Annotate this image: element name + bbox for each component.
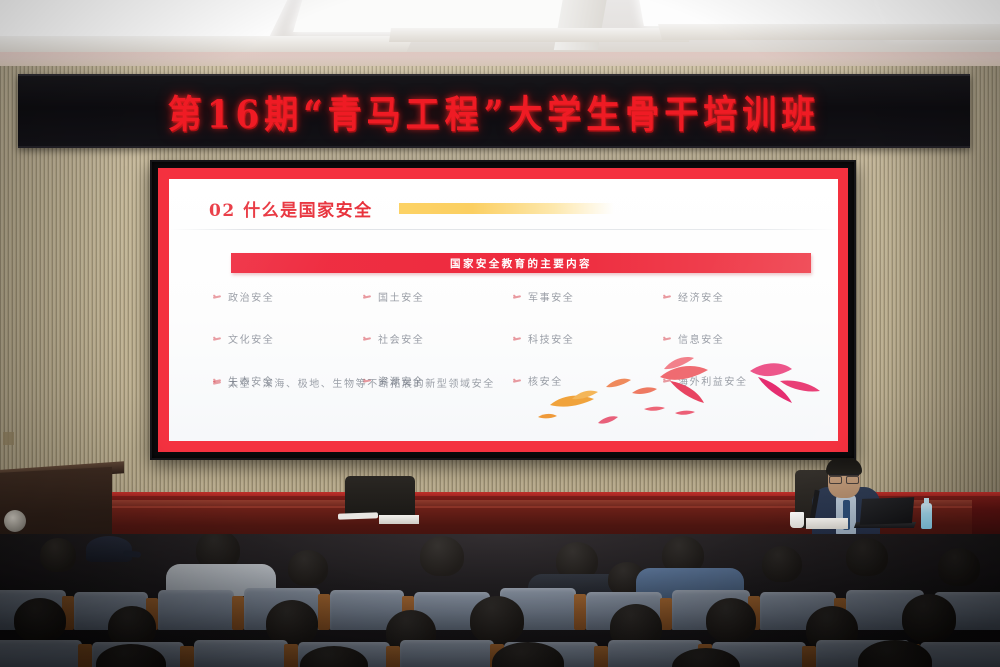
section-heading-text: 国家安全教育的主要内容 <box>450 256 592 271</box>
ceiling-beam <box>554 0 610 50</box>
audience-head <box>762 546 802 582</box>
audience-cap <box>86 536 132 562</box>
check-icon <box>363 294 372 300</box>
seat[interactable] <box>194 640 288 667</box>
ceiling-light-panel <box>636 0 894 26</box>
bullet-label: 军事安全 <box>528 289 574 304</box>
bullet-label: 科技安全 <box>528 331 574 346</box>
slide-title-row: 02 什么是国家安全 <box>169 193 838 223</box>
slide-content: 02 什么是国家安全 国家安全教育的主要内容 政治安全 国土安全 <box>169 179 838 441</box>
speaker-hair <box>826 458 862 475</box>
water-bottle <box>921 503 932 529</box>
glasses-icon <box>829 474 859 483</box>
bullet-label: 太空、深海、极地、生物等不断拓展的新型领域安全 <box>228 375 495 390</box>
audience-head <box>902 594 956 642</box>
audience-head <box>288 550 328 586</box>
check-icon <box>663 336 672 342</box>
seat-armrest <box>318 594 330 630</box>
bullet-label: 政治安全 <box>228 289 274 304</box>
seat[interactable] <box>400 640 494 667</box>
audience-head <box>938 548 980 586</box>
laptop-screen <box>860 497 914 525</box>
ceiling-rib <box>389 28 691 42</box>
seat-armrest <box>386 646 400 667</box>
check-icon <box>213 380 222 386</box>
ceiling-rib <box>658 24 1000 40</box>
podium-emblem <box>4 510 26 532</box>
event-banner: 第16期“青马工程”大学生骨干培训班 <box>18 74 970 148</box>
seat-armrest <box>180 646 194 667</box>
paper-cup <box>790 512 804 528</box>
empty-chair <box>345 476 415 516</box>
lecture-hall-photo: 第16期“青马工程”大学生骨干培训班 02 什么是国家安全 国家安全教育的主要内… <box>0 0 1000 667</box>
check-icon <box>513 378 522 384</box>
title-accent-bar <box>399 203 614 214</box>
bullet-item: 军事安全 <box>513 289 663 304</box>
slide: 02 什么是国家安全 国家安全教育的主要内容 政治安全 国土安全 <box>158 168 848 452</box>
bullet-item: 社会安全 <box>363 331 513 346</box>
event-banner-text: 第16期“青马工程”大学生骨干培训班 <box>168 84 820 139</box>
check-icon <box>513 336 522 342</box>
flying-birds-decoration <box>532 347 832 439</box>
bullet-item: 科技安全 <box>513 331 663 346</box>
title-divider <box>169 229 838 230</box>
check-icon <box>363 336 372 342</box>
bullet-item: 信息安全 <box>663 331 813 346</box>
check-icon <box>513 294 522 300</box>
check-icon <box>663 294 672 300</box>
bullet-item: 经济安全 <box>663 289 813 304</box>
seat-armrest <box>594 646 608 667</box>
audience-head <box>420 536 464 576</box>
check-icon <box>213 294 222 300</box>
bullet-label: 社会安全 <box>378 331 424 346</box>
seat[interactable] <box>158 590 234 630</box>
bullet-label: 信息安全 <box>678 331 724 346</box>
section-heading-bar: 国家安全教育的主要内容 <box>231 253 811 273</box>
seat-armrest <box>232 596 244 630</box>
audience-head <box>40 538 76 572</box>
ceiling-rib <box>0 36 414 52</box>
bullet-item: 文化安全 <box>213 331 363 346</box>
bullet-item: 国土安全 <box>363 289 513 304</box>
bullet-label: 国土安全 <box>378 289 424 304</box>
seat-armrest <box>574 594 586 630</box>
audience-head <box>470 596 524 644</box>
bullet-label: 经济安全 <box>678 289 724 304</box>
audience-head <box>14 598 66 642</box>
slide-title: 02 什么是国家安全 <box>209 196 373 221</box>
bullet-item-wide: 太空、深海、极地、生物等不断拓展的新型领域安全 <box>213 375 495 390</box>
seat-armrest <box>284 644 298 667</box>
check-icon <box>213 336 222 342</box>
wall-socket <box>3 432 14 445</box>
seat[interactable] <box>920 642 1000 667</box>
name-card <box>379 515 419 524</box>
audience-head <box>846 538 888 576</box>
seat-armrest <box>802 646 816 667</box>
projection-screen: 02 什么是国家安全 国家安全教育的主要内容 政治安全 国土安全 <box>150 160 856 460</box>
seat-armrest <box>78 644 92 667</box>
audience-head <box>706 598 756 642</box>
name-card <box>806 518 848 529</box>
bullet-item: 政治安全 <box>213 289 363 304</box>
audience-area <box>0 534 1000 667</box>
bullet-label: 文化安全 <box>228 331 274 346</box>
seat[interactable] <box>0 640 82 667</box>
